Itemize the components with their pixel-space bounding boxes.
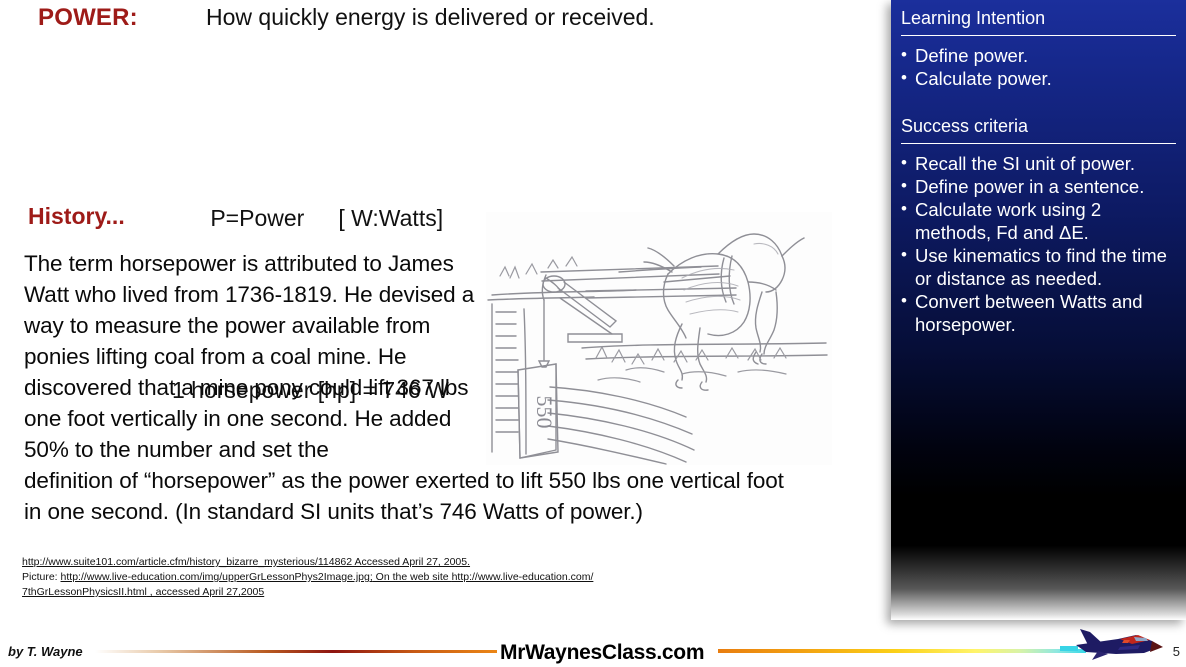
success-criteria-heading: Success criteria [901, 116, 1176, 141]
success-criteria-item: Use kinematics to find the time or dista… [901, 244, 1176, 290]
learning-intention-heading: Learning Intention [901, 8, 1176, 33]
citation-link-site[interactable]: http://www.live-education.com/ [452, 571, 594, 583]
horsepower-sketch-figure: 550 [486, 212, 832, 465]
page-number: 5 [1173, 644, 1180, 659]
citation-accessed-date: , accessed April 27,2005 [147, 586, 264, 598]
citation-line2-middle: On the web site [373, 571, 452, 583]
learning-intention-divider [901, 35, 1176, 36]
objectives-panel: Learning Intention Define power. Calcula… [891, 0, 1186, 620]
panel-spacer [901, 90, 1176, 116]
weight-label: 550 [532, 396, 557, 429]
citation-picture-label: Picture: [22, 571, 61, 583]
footer-author: by T. Wayne [8, 644, 83, 659]
citation-line-1: http://www.suite101.com/article.cfm/hist… [22, 555, 702, 570]
success-criteria-item: Convert between Watts and horsepower. [901, 290, 1176, 336]
citation-line-2: Picture: http://www.live-education.com/i… [22, 570, 702, 585]
learning-intention-list: Define power. Calculate power. [901, 44, 1176, 90]
jet-plane-icon [1060, 627, 1164, 663]
learning-intention-item: Calculate power. [901, 67, 1176, 90]
history-paragraph-wide: definition of “horsepower” as the power … [24, 465, 784, 527]
formula-power-units: [ W:Watts] [338, 205, 443, 231]
slide-canvas: POWER: How quickly energy is delivered o… [0, 0, 1186, 667]
success-criteria-item: Recall the SI unit of power. [901, 152, 1176, 175]
power-heading: POWER: [38, 4, 138, 32]
success-criteria-item: Define power in a sentence. [901, 175, 1176, 198]
success-criteria-divider [901, 143, 1176, 144]
horse-pulley-sketch-icon: 550 [486, 212, 832, 465]
formula-power-symbol: P=Power [210, 205, 304, 231]
objectives-panel-inner: Learning Intention Define power. Calcula… [891, 0, 1186, 336]
citation-link-lesson-page[interactable]: 7thGrLessonPhysicsII.html [22, 586, 147, 598]
slide-footer: by T. Wayne MrWaynesClass.com 5 [0, 617, 1186, 667]
footer-site-link[interactable]: MrWaynesClass.com [497, 641, 707, 665]
power-definition-text: How quickly energy is delivered or recei… [206, 4, 655, 31]
footer-rule-right [718, 649, 1086, 653]
citation-link-image[interactable]: http://www.live-education.com/img/upperG… [61, 571, 373, 583]
learning-intention-item: Define power. [901, 44, 1176, 67]
citation-line-3: 7thGrLessonPhysicsII.html , accessed Apr… [22, 585, 702, 600]
success-criteria-list: Recall the SI unit of power. Define powe… [901, 152, 1176, 336]
history-heading: History... [28, 203, 125, 230]
citation-block: http://www.suite101.com/article.cfm/hist… [22, 555, 702, 600]
history-paragraph-narrow: The term horsepower is attributed to Jam… [24, 248, 479, 465]
citation-link-suite101[interactable]: http://www.suite101.com/article.cfm/hist… [22, 556, 470, 568]
footer-rule-left [95, 650, 505, 653]
success-criteria-item: Calculate work using 2 methods, Fd and Δ… [901, 198, 1176, 244]
